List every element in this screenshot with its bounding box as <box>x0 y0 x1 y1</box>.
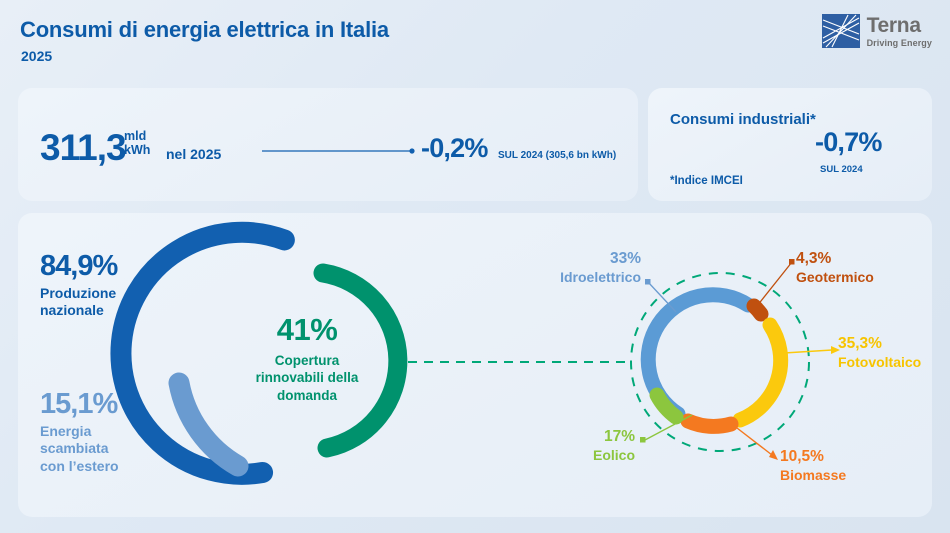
label-geotermico-pct: 4,3% <box>796 250 874 269</box>
terna-logo: Terna Driving Energy <box>822 14 932 48</box>
industrial-footnote: *Indice IMCEI <box>670 175 743 187</box>
trend-arrow-icon <box>262 142 418 160</box>
label-idroelettrico-name: Idroelettrico <box>528 269 641 286</box>
label-eolico: 17% Eolico <box>573 428 635 463</box>
label-biomasse: 10,5% Biomasse <box>780 448 846 483</box>
infographic-root: Consumi di energia elettrica in Italia 2… <box>0 0 950 533</box>
stat-foreign-exchange: 15,1% Energiascambiatacon l’estero <box>40 388 119 475</box>
label-fotovoltaico-name: Fotovoltaico <box>838 354 921 371</box>
consumption-unit: mld kWh <box>124 130 150 157</box>
page-title: Consumi di energia elettrica in Italia <box>20 17 389 43</box>
industrial-delta: -0,7% <box>815 127 882 158</box>
center-caption: Coperturarinnovabili delladomanda <box>232 352 382 404</box>
logo-wordmark: Terna <box>867 15 932 36</box>
stat-exchange-value: 15,1% <box>40 388 119 421</box>
page-subtitle: 2025 <box>21 48 52 64</box>
label-idroelettrico-pct: 33% <box>528 250 641 269</box>
unit-line-2: kWh <box>124 143 150 157</box>
label-geotermico-name: Geotermico <box>796 269 874 286</box>
center-percentage: 41% <box>252 312 362 348</box>
label-biomasse-pct: 10,5% <box>780 448 846 467</box>
consumption-delta: -0,2% <box>421 133 488 164</box>
label-idroelettrico: 33% Idroelettrico <box>528 250 641 285</box>
stat-national-production: 84,9% Produzionenazionale <box>40 250 117 320</box>
stat-national-label: Produzionenazionale <box>40 285 117 320</box>
label-biomasse-name: Biomasse <box>780 467 846 484</box>
unit-line-1: mld <box>124 129 146 143</box>
label-geotermico: 4,3% Geotermico <box>796 250 874 285</box>
label-eolico-pct: 17% <box>573 428 635 447</box>
label-fotovoltaico: 35,3% Fotovoltaico <box>838 335 921 370</box>
terna-logo-mark <box>822 14 860 48</box>
consumption-period: nel 2025 <box>166 146 221 162</box>
label-eolico-name: Eolico <box>573 447 635 464</box>
label-fotovoltaico-pct: 35,3% <box>838 335 921 354</box>
consumption-value: 311,3 <box>40 127 126 169</box>
logo-tagline: Driving Energy <box>867 39 932 48</box>
stat-national-value: 84,9% <box>40 250 117 283</box>
consumption-delta-note: SUL 2024 (305,6 bn kWh) <box>498 150 616 161</box>
industrial-label: Consumi industriali* <box>670 110 816 129</box>
stat-exchange-label: Energiascambiatacon l’estero <box>40 423 119 475</box>
industrial-delta-note: SUL 2024 <box>820 164 863 175</box>
